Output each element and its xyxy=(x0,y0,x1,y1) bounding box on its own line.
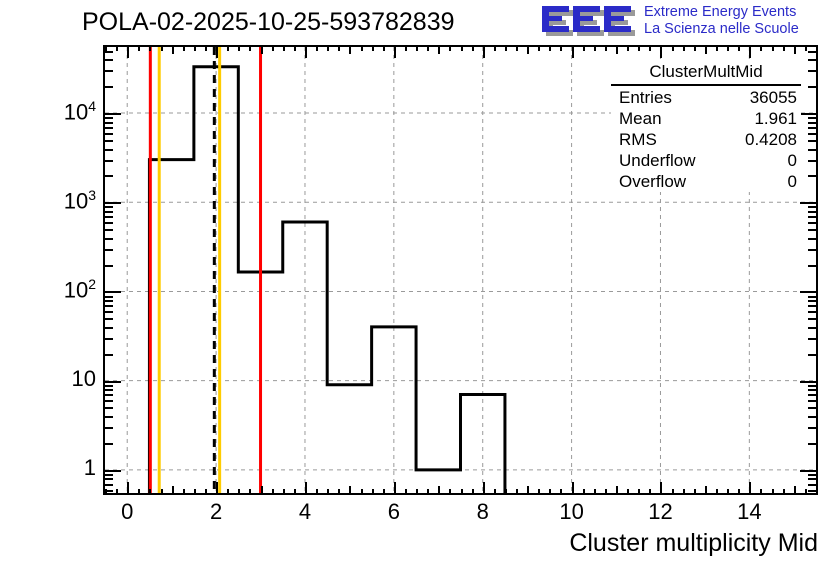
axis-tick xyxy=(383,489,385,495)
axis-tick xyxy=(538,45,540,51)
axis-tick xyxy=(105,474,113,476)
axis-tick xyxy=(105,238,113,240)
x-tick-label: 0 xyxy=(107,499,147,525)
axis-tick xyxy=(105,338,113,340)
x-axis-title: Cluster multiplicity Mid xyxy=(569,529,818,558)
root-canvas: POLA-02-2025-10-25-593782839 Extreme Ene… xyxy=(0,0,836,572)
eee-logo-line2: La Scienza nelle Scuole xyxy=(644,21,799,38)
axis-tick xyxy=(694,45,696,51)
y-tick-label: 102 xyxy=(0,276,96,303)
axis-tick xyxy=(105,133,113,135)
axis-tick xyxy=(494,489,496,495)
axis-tick xyxy=(194,45,196,51)
stats-row: Entries36055 xyxy=(611,88,801,109)
axis-tick xyxy=(427,489,429,495)
axis-tick xyxy=(216,482,218,495)
axis-tick xyxy=(161,45,163,51)
axis-tick xyxy=(527,486,529,495)
axis-tick xyxy=(808,484,816,486)
axis-tick xyxy=(105,400,113,402)
axis-tick xyxy=(127,45,129,58)
eee-logo: Extreme Energy Events La Scienza nelle S… xyxy=(540,3,832,41)
axis-tick xyxy=(808,389,816,391)
eee-logo-text: Extreme Energy Events La Scienza nelle S… xyxy=(644,4,799,38)
axis-tick xyxy=(349,486,351,495)
axis-tick xyxy=(749,482,751,495)
axis-tick xyxy=(594,45,596,51)
axis-tick xyxy=(808,296,816,298)
axis-tick xyxy=(105,296,113,298)
axis-tick xyxy=(808,427,816,429)
axis-tick xyxy=(105,327,113,329)
axis-tick xyxy=(538,489,540,495)
x-tick-label: 12 xyxy=(640,499,680,525)
axis-tick xyxy=(327,489,329,495)
axis-tick xyxy=(808,385,816,387)
stats-row: Mean1.961 xyxy=(611,109,801,130)
stats-row-value: 0.4208 xyxy=(745,130,797,150)
stats-row-value: 0 xyxy=(788,151,797,171)
axis-tick xyxy=(638,489,640,495)
axis-tick xyxy=(205,489,207,495)
axis-tick xyxy=(472,45,474,51)
x-tick-label: 4 xyxy=(285,499,325,525)
axis-tick xyxy=(783,45,785,51)
stats-row-value: 0 xyxy=(788,172,797,192)
axis-tick xyxy=(808,206,816,208)
axis-tick xyxy=(505,489,507,495)
axis-tick xyxy=(808,222,816,224)
axis-tick xyxy=(105,427,113,429)
axis-tick xyxy=(105,160,113,162)
axis-tick xyxy=(808,175,816,177)
axis-tick xyxy=(416,45,418,51)
axis-tick xyxy=(649,489,651,495)
axis-tick xyxy=(808,160,816,162)
axis-tick xyxy=(772,489,774,495)
axis-tick xyxy=(808,122,816,124)
axis-tick xyxy=(405,45,407,51)
axis-tick xyxy=(800,113,816,115)
axis-tick xyxy=(427,45,429,51)
axis-tick xyxy=(183,45,185,51)
axis-tick xyxy=(672,489,674,495)
axis-tick xyxy=(760,45,762,51)
axis-tick xyxy=(161,489,163,495)
axis-tick xyxy=(483,482,485,495)
x-tick-label: 6 xyxy=(374,499,414,525)
axis-tick xyxy=(738,489,740,495)
axis-tick xyxy=(105,70,113,72)
stats-title: ClusterMultMid xyxy=(611,62,801,82)
axis-tick xyxy=(105,175,113,177)
axis-tick xyxy=(808,216,816,218)
axis-tick xyxy=(738,45,740,51)
axis-tick xyxy=(483,45,485,58)
axis-tick xyxy=(749,45,751,58)
y-tick-label: 103 xyxy=(0,187,96,214)
axis-tick xyxy=(808,443,816,445)
axis-tick xyxy=(105,407,113,409)
axis-tick xyxy=(808,305,816,307)
axis-tick xyxy=(760,489,762,495)
axis-tick xyxy=(616,486,618,495)
axis-tick xyxy=(238,489,240,495)
axis-tick xyxy=(316,45,318,51)
axis-tick xyxy=(808,133,816,135)
axis-tick xyxy=(438,486,440,495)
y-tick-label: 104 xyxy=(0,98,96,125)
x-tick-label: 8 xyxy=(463,499,503,525)
axis-tick xyxy=(461,489,463,495)
axis-tick xyxy=(616,45,618,54)
axis-tick xyxy=(105,470,121,472)
axis-tick xyxy=(549,45,551,51)
x-tick-label: 14 xyxy=(729,499,769,525)
axis-tick xyxy=(716,489,718,495)
axis-tick xyxy=(361,489,363,495)
axis-tick xyxy=(149,489,151,495)
axis-tick xyxy=(149,45,151,51)
axis-tick xyxy=(800,470,816,472)
stats-row-key: Underflow xyxy=(619,151,696,171)
stats-row-value: 1.961 xyxy=(754,109,797,129)
axis-tick xyxy=(338,489,340,495)
axis-tick xyxy=(394,45,396,58)
axis-tick xyxy=(105,389,113,391)
axis-tick xyxy=(808,318,816,320)
axis-tick xyxy=(105,59,113,61)
axis-tick xyxy=(683,45,685,51)
axis-tick xyxy=(116,45,118,51)
axis-tick xyxy=(783,489,785,495)
axis-tick xyxy=(816,489,818,495)
axis-tick xyxy=(205,45,207,51)
axis-tick xyxy=(438,45,440,54)
axis-tick xyxy=(461,45,463,51)
axis-tick xyxy=(105,354,113,356)
page-title: POLA-02-2025-10-25-593782839 xyxy=(82,8,455,37)
axis-tick xyxy=(808,400,816,402)
axis-tick xyxy=(516,45,518,51)
axis-tick xyxy=(305,482,307,495)
axis-tick xyxy=(449,489,451,495)
axis-tick xyxy=(105,300,113,302)
axis-tick xyxy=(194,489,196,495)
axis-tick xyxy=(372,45,374,51)
axis-tick xyxy=(808,238,816,240)
axis-tick xyxy=(105,416,113,418)
stats-row-key: Mean xyxy=(619,109,662,129)
axis-tick xyxy=(105,113,121,115)
axis-tick xyxy=(105,394,113,396)
axis-tick xyxy=(805,45,807,51)
axis-tick xyxy=(349,45,351,54)
x-tick-label: 2 xyxy=(196,499,236,525)
axis-tick xyxy=(808,300,816,302)
axis-tick xyxy=(172,486,174,495)
axis-tick xyxy=(105,122,113,124)
axis-tick xyxy=(105,202,121,204)
stats-box: ClusterMultMid Entries36055Mean1.961RMS0… xyxy=(611,62,801,192)
y-tick-label: 1 xyxy=(0,455,96,481)
axis-tick xyxy=(808,211,816,213)
axis-tick xyxy=(638,45,640,51)
axis-tick xyxy=(249,489,251,495)
axis-tick xyxy=(583,489,585,495)
axis-tick xyxy=(672,45,674,51)
axis-tick xyxy=(808,311,816,313)
axis-tick xyxy=(183,489,185,495)
axis-tick xyxy=(416,489,418,495)
axis-tick xyxy=(305,45,307,58)
axis-tick xyxy=(172,45,174,54)
axis-tick xyxy=(227,489,229,495)
axis-tick xyxy=(627,489,629,495)
axis-tick xyxy=(800,291,816,293)
axis-tick xyxy=(660,45,662,58)
axis-tick xyxy=(227,45,229,51)
stats-row-key: Entries xyxy=(619,88,672,108)
axis-tick xyxy=(808,327,816,329)
axis-tick xyxy=(105,127,113,129)
axis-tick xyxy=(800,202,816,204)
axis-tick xyxy=(327,45,329,51)
axis-tick xyxy=(105,478,113,480)
axis-tick xyxy=(583,45,585,51)
axis-tick xyxy=(449,45,451,51)
axis-tick xyxy=(808,416,816,418)
axis-tick xyxy=(808,265,816,267)
y-tick-label: 10 xyxy=(0,366,96,392)
axis-tick xyxy=(549,489,551,495)
axis-tick xyxy=(808,117,816,119)
axis-tick xyxy=(472,489,474,495)
axis-tick xyxy=(294,489,296,495)
axis-tick xyxy=(116,489,118,495)
axis-tick xyxy=(808,490,816,492)
axis-tick xyxy=(105,311,113,313)
axis-tick xyxy=(105,86,113,88)
axis-tick xyxy=(808,127,816,129)
eee-logo-mark xyxy=(540,3,640,39)
axis-tick xyxy=(605,489,607,495)
axis-tick xyxy=(560,489,562,495)
axis-tick xyxy=(683,489,685,495)
axis-tick xyxy=(105,249,113,251)
axis-tick xyxy=(516,489,518,495)
axis-tick xyxy=(316,489,318,495)
axis-tick xyxy=(138,45,140,51)
axis-tick xyxy=(105,381,121,383)
axis-tick xyxy=(808,474,816,476)
axis-tick xyxy=(808,478,816,480)
axis-tick xyxy=(594,489,596,495)
axis-tick xyxy=(105,140,113,142)
axis-tick xyxy=(808,86,816,88)
axis-tick xyxy=(808,354,816,356)
axis-tick xyxy=(808,338,816,340)
axis-tick xyxy=(808,149,816,151)
axis-tick xyxy=(605,45,607,51)
axis-tick xyxy=(560,45,562,51)
axis-tick xyxy=(694,489,696,495)
axis-tick xyxy=(794,486,796,495)
axis-tick xyxy=(808,70,816,72)
axis-tick xyxy=(772,45,774,51)
axis-tick xyxy=(808,140,816,142)
axis-tick xyxy=(283,45,285,51)
axis-tick xyxy=(238,45,240,51)
axis-tick xyxy=(105,385,113,387)
axis-tick xyxy=(816,45,818,51)
axis-tick xyxy=(105,318,113,320)
axis-tick xyxy=(105,117,113,119)
axis-tick xyxy=(105,484,113,486)
axis-tick xyxy=(527,45,529,54)
axis-tick xyxy=(405,489,407,495)
stats-row: Underflow0 xyxy=(611,151,801,172)
axis-tick xyxy=(808,59,816,61)
axis-tick xyxy=(627,45,629,51)
axis-tick xyxy=(105,305,113,307)
axis-tick xyxy=(383,45,385,51)
axis-tick xyxy=(105,443,113,445)
axis-tick xyxy=(105,211,113,213)
axis-tick xyxy=(494,45,496,51)
axis-tick xyxy=(272,489,274,495)
stats-row: Overflow0 xyxy=(611,172,801,193)
axis-tick xyxy=(261,45,263,54)
axis-tick xyxy=(361,45,363,51)
axis-tick xyxy=(105,216,113,218)
axis-tick xyxy=(572,482,574,495)
axis-tick xyxy=(660,482,662,495)
axis-tick xyxy=(105,291,121,293)
axis-tick xyxy=(808,407,816,409)
axis-tick xyxy=(261,486,263,495)
axis-tick xyxy=(294,45,296,51)
axis-tick xyxy=(216,45,218,58)
axis-tick xyxy=(105,229,113,231)
axis-tick xyxy=(808,249,816,251)
axis-tick xyxy=(800,381,816,383)
axis-tick xyxy=(794,45,796,54)
axis-tick xyxy=(727,489,729,495)
axis-tick xyxy=(127,482,129,495)
axis-tick xyxy=(105,222,113,224)
axis-tick xyxy=(727,45,729,51)
axis-tick xyxy=(138,489,140,495)
axis-tick xyxy=(272,45,274,51)
axis-tick xyxy=(808,394,816,396)
axis-tick xyxy=(808,51,816,53)
axis-tick xyxy=(505,45,507,51)
axis-tick xyxy=(394,482,396,495)
stats-row-key: Overflow xyxy=(619,172,686,192)
stats-divider xyxy=(611,84,801,86)
axis-tick xyxy=(805,489,807,495)
axis-tick xyxy=(105,490,113,492)
axis-tick xyxy=(105,265,113,267)
axis-tick xyxy=(105,206,113,208)
axis-tick xyxy=(283,489,285,495)
axis-tick xyxy=(105,149,113,151)
axis-tick xyxy=(105,51,113,53)
axis-tick xyxy=(705,486,707,495)
x-tick-label: 10 xyxy=(552,499,592,525)
stats-row-key: RMS xyxy=(619,130,657,150)
axis-tick xyxy=(808,229,816,231)
stats-row: RMS0.4208 xyxy=(611,130,801,151)
axis-tick xyxy=(338,45,340,51)
stats-row-value: 36055 xyxy=(750,88,797,108)
axis-tick xyxy=(716,45,718,51)
axis-tick xyxy=(705,45,707,54)
axis-tick xyxy=(572,45,574,58)
axis-tick xyxy=(649,45,651,51)
eee-logo-line1: Extreme Energy Events xyxy=(644,4,799,21)
axis-tick xyxy=(249,45,251,51)
axis-tick xyxy=(372,489,374,495)
